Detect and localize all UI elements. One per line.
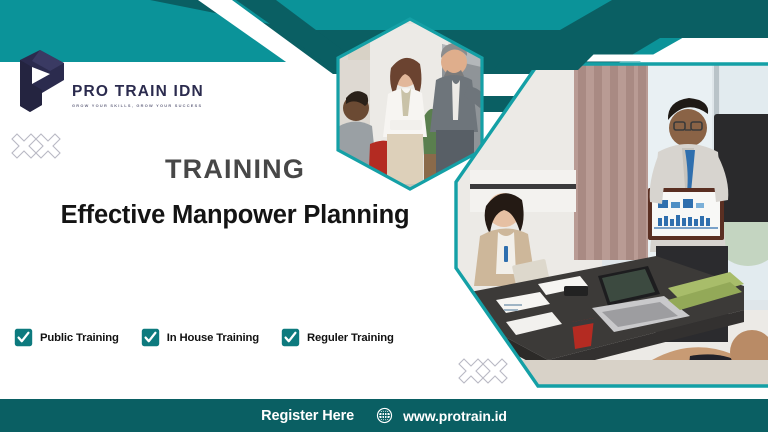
eyebrow-training-label: TRAINING [20, 155, 450, 183]
footer-bar: Register Here www.protrain.id [0, 399, 768, 432]
logo-wordmark: PRO TRAIN IDN [72, 84, 204, 100]
checkbox-checked-icon[interactable] [281, 328, 300, 347]
training-type-in-house[interactable]: In House Training [141, 328, 259, 347]
meeting-room-photo [452, 60, 768, 390]
protrain-arrow-mark-icon [16, 50, 68, 112]
checkbox-checked-icon[interactable] [141, 328, 160, 347]
course-title: Effective Manpower Planning [20, 199, 450, 231]
website-link[interactable]: www.protrain.id [376, 407, 507, 424]
globe-icon [376, 407, 393, 424]
training-type-label: Public Training [40, 332, 119, 344]
training-type-label: In House Training [167, 332, 259, 344]
checkbox-checked-icon[interactable] [14, 328, 33, 347]
headline-block: TRAINING Effective Manpower Planning [20, 155, 450, 231]
website-url-text: www.protrain.id [403, 408, 507, 424]
training-poster: PRO TRAIN IDN GROW YOUR SKILLS, GROW YOU… [0, 0, 768, 432]
brand-logo[interactable]: PRO TRAIN IDN GROW YOUR SKILLS, GROW YOU… [16, 50, 204, 112]
training-type-public[interactable]: Public Training [14, 328, 119, 347]
register-here-label[interactable]: Register Here [261, 408, 354, 424]
training-type-reguler[interactable]: Reguler Training [281, 328, 394, 347]
training-type-options: Public Training In House Training Regule… [14, 328, 394, 347]
logo-tagline: GROW YOUR SKILLS, GROW YOUR SUCCESS [72, 103, 204, 108]
training-type-label: Reguler Training [307, 332, 394, 344]
logo-text-wrap: PRO TRAIN IDN GROW YOUR SKILLS, GROW YOU… [72, 84, 204, 113]
